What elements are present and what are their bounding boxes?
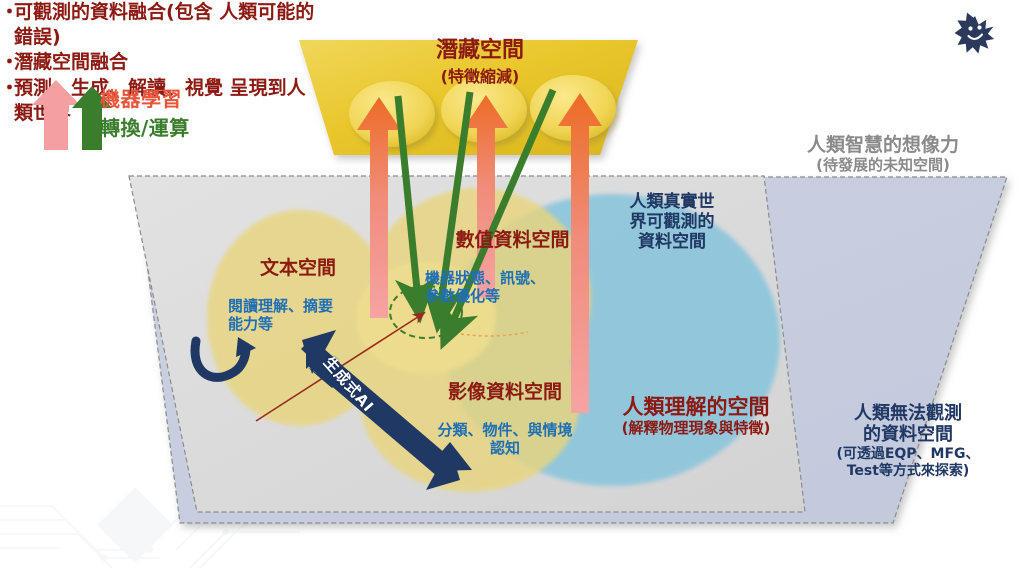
human-understanding-subtitle: (解釋物理現象與特徵) xyxy=(586,420,806,438)
imagination-subtitle: (待發展的未知空間) xyxy=(758,157,1008,175)
observable-world-label: 人類真實世 界可觀測的 資料空間 xyxy=(608,192,736,252)
unobservable-subtitle: (可透過EQP、MFG、 Test等方式來探索) xyxy=(808,446,1008,481)
legend-machine-learning-label: 機器學習 xyxy=(100,88,182,112)
imagination-title: 人類智慧的想像力 xyxy=(807,134,959,156)
image-space-label: 影像資料空間 分類、物件、與情境 認知 xyxy=(410,362,600,476)
unobservable-space-block: 人類無法觀測 的資料空間 (可透過EQP、MFG、 Test等方式來探索) xyxy=(808,382,1008,502)
numeric-space-subtitle: 機器狀態、訊號、 參數優化等 xyxy=(425,270,600,305)
sun-face-logo xyxy=(955,13,995,54)
human-understanding-label: 人類理解的空間 (解釋物理現象與特徵) xyxy=(586,370,806,462)
imagination-block: 人類智慧的想像力 (待發展的未知空間) xyxy=(758,112,1008,197)
image-space-subtitle: 分類、物件、與情境 認知 xyxy=(410,422,600,457)
text-space-subtitle: 閱讀理解、摘要 能力等 xyxy=(228,298,368,333)
text-space-title: 文本空間 xyxy=(228,257,368,279)
text-space-label: 文本空間 閱讀理解、摘要 能力等 xyxy=(228,238,368,352)
latent-space-title: 潛藏空間 xyxy=(330,38,630,64)
human-understanding-title: 人類理解的空間 xyxy=(623,395,770,419)
legend-ml-arrow xyxy=(32,80,80,150)
numeric-space-label: 數值資料空間 機器狀態、訊號、 參數優化等 xyxy=(425,210,600,324)
image-space-title: 影像資料空間 xyxy=(410,381,600,403)
latent-space-subtitle: (特徵縮減) xyxy=(330,68,630,87)
legend-transform-label: 轉換/運算 xyxy=(100,117,190,141)
numeric-space-title: 數值資料空間 xyxy=(425,229,600,251)
unobservable-title: 人類無法觀測 的資料空間 xyxy=(854,403,962,445)
slide-canvas: 機器學習 轉換/運算 潛藏空間 (特徵縮減) 人類智慧的想像力 (待發展的未知空… xyxy=(0,0,1024,568)
